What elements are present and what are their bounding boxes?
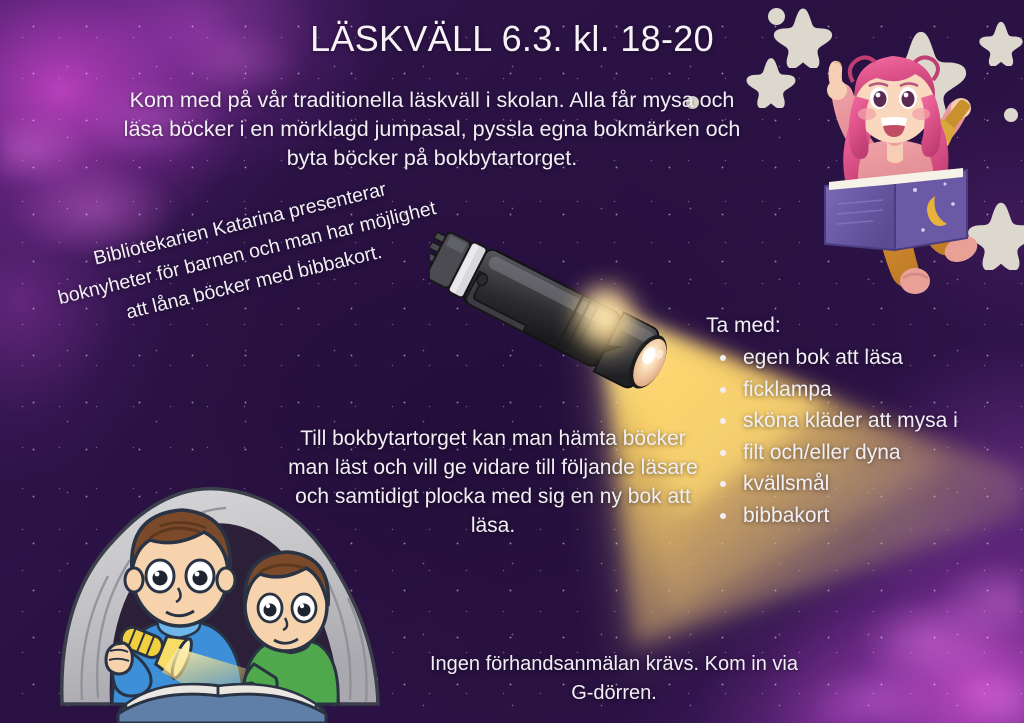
- bullet-icon: [720, 355, 726, 361]
- bullet-icon: [720, 450, 726, 456]
- list-item-label: egen bok att läsa: [743, 346, 903, 369]
- list-item: kvällsmål: [706, 468, 1016, 500]
- bring-list-block: Ta med: egen bok att läsa ficklampa skön…: [706, 312, 1016, 531]
- list-item-label: filt och/eller dyna: [743, 441, 901, 464]
- list-item: filt och/eller dyna: [706, 437, 1016, 469]
- list-item: ficklampa: [706, 374, 1016, 406]
- footer-note: Ingen förhandsanmälan krävs. Kom in via …: [424, 650, 804, 708]
- list-item: egen bok att läsa: [706, 342, 1016, 374]
- list-item: bibbakort: [706, 500, 1016, 532]
- list-item-label: kvällsmål: [743, 472, 829, 495]
- list-item-label: bibbakort: [743, 504, 829, 527]
- bring-list: egen bok att läsa ficklampa sköna kläder…: [706, 342, 1016, 531]
- page-title: LÄSKVÄLL 6.3. kl. 18-20: [0, 18, 1024, 60]
- book-swap-note: Till bokbytartorget kan man hämta böcker…: [278, 424, 708, 540]
- poster-canvas: LÄSKVÄLL 6.3. kl. 18-20 Kom med på vår t…: [0, 0, 1024, 723]
- decorative-star: [745, 56, 797, 108]
- list-item: sköna kläder att mysa i: [706, 405, 1016, 437]
- girl-reading-illustration: [795, 38, 1010, 296]
- list-item-label: sköna kläder att mysa i: [743, 409, 958, 432]
- bullet-icon: [720, 481, 726, 487]
- bring-list-heading: Ta med:: [706, 312, 1016, 340]
- intro-paragraph: Kom med på vår traditionella läskväll i …: [112, 86, 752, 173]
- bullet-icon: [720, 387, 726, 393]
- bullet-icon: [720, 513, 726, 519]
- bullet-icon: [720, 418, 726, 424]
- list-item-label: ficklampa: [743, 378, 832, 401]
